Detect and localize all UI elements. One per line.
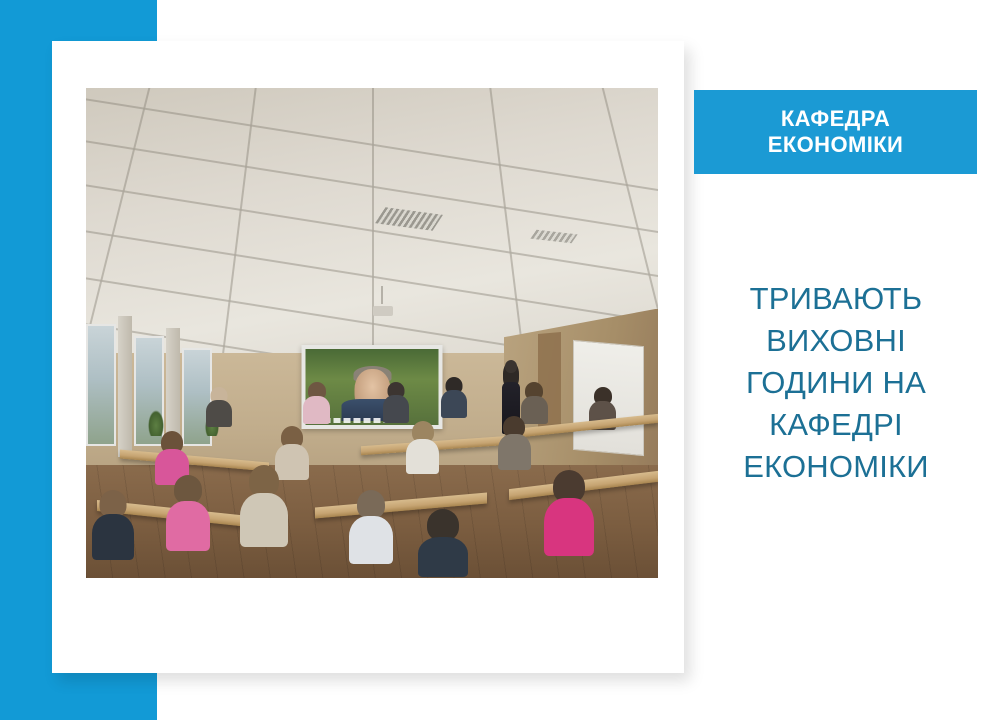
- projector-mount: [381, 286, 383, 304]
- student-figure: [349, 490, 393, 564]
- student-body: [498, 434, 531, 470]
- page-title-line-4: КАФЕДРІ: [692, 404, 980, 446]
- student-head: [174, 475, 202, 504]
- student-body: [383, 395, 409, 423]
- student-body: [92, 514, 134, 560]
- student-figure: [303, 382, 330, 424]
- page-title-line-1: ТРИВАЮТЬ: [692, 278, 980, 320]
- window: [86, 324, 116, 446]
- department-badge-line-1: КАФЕДРА: [781, 106, 890, 131]
- accent-bar-bottom: [0, 673, 157, 720]
- student-body: [206, 400, 232, 427]
- student-figure: [166, 475, 210, 551]
- accent-bar-top: [0, 0, 157, 41]
- department-badge-text: КАФЕДРА ЕКОНОМІКИ: [768, 106, 904, 158]
- student-body: [240, 493, 288, 547]
- student-body: [418, 537, 468, 577]
- projector-icon: [373, 306, 393, 316]
- student-body: [166, 501, 210, 551]
- student-body: [406, 439, 439, 474]
- student-body: [349, 516, 393, 564]
- page-title-line-3: ГОДИНИ НА: [692, 362, 980, 404]
- student-figure: [406, 421, 439, 474]
- page-title-line-2: ВИХОВНІ: [692, 320, 980, 362]
- page-title: ТРИВАЮТЬ ВИХОВНІ ГОДИНИ НА КАФЕДРІ ЕКОНО…: [692, 278, 980, 488]
- student-figure: [498, 416, 531, 470]
- student-figure: [544, 470, 594, 556]
- presenter-head: [505, 360, 517, 373]
- student-figure: [418, 509, 468, 577]
- student-body: [441, 390, 467, 418]
- department-badge: КАФЕДРА ЕКОНОМІКИ: [694, 90, 977, 174]
- student-head: [357, 490, 385, 519]
- student-body: [544, 498, 594, 556]
- pillar: [118, 316, 132, 457]
- page-title-line-5: ЕКОНОМІКИ: [692, 446, 980, 488]
- photo-scene: [86, 88, 658, 578]
- student-figure: [206, 387, 232, 427]
- student-body: [303, 396, 330, 424]
- department-badge-line-2: ЕКОНОМІКИ: [768, 132, 904, 157]
- student-figure: [383, 382, 409, 423]
- student-figure: [92, 490, 134, 560]
- student-figure: [441, 377, 467, 418]
- classroom-photo: [86, 88, 658, 578]
- student-figure: [240, 465, 288, 547]
